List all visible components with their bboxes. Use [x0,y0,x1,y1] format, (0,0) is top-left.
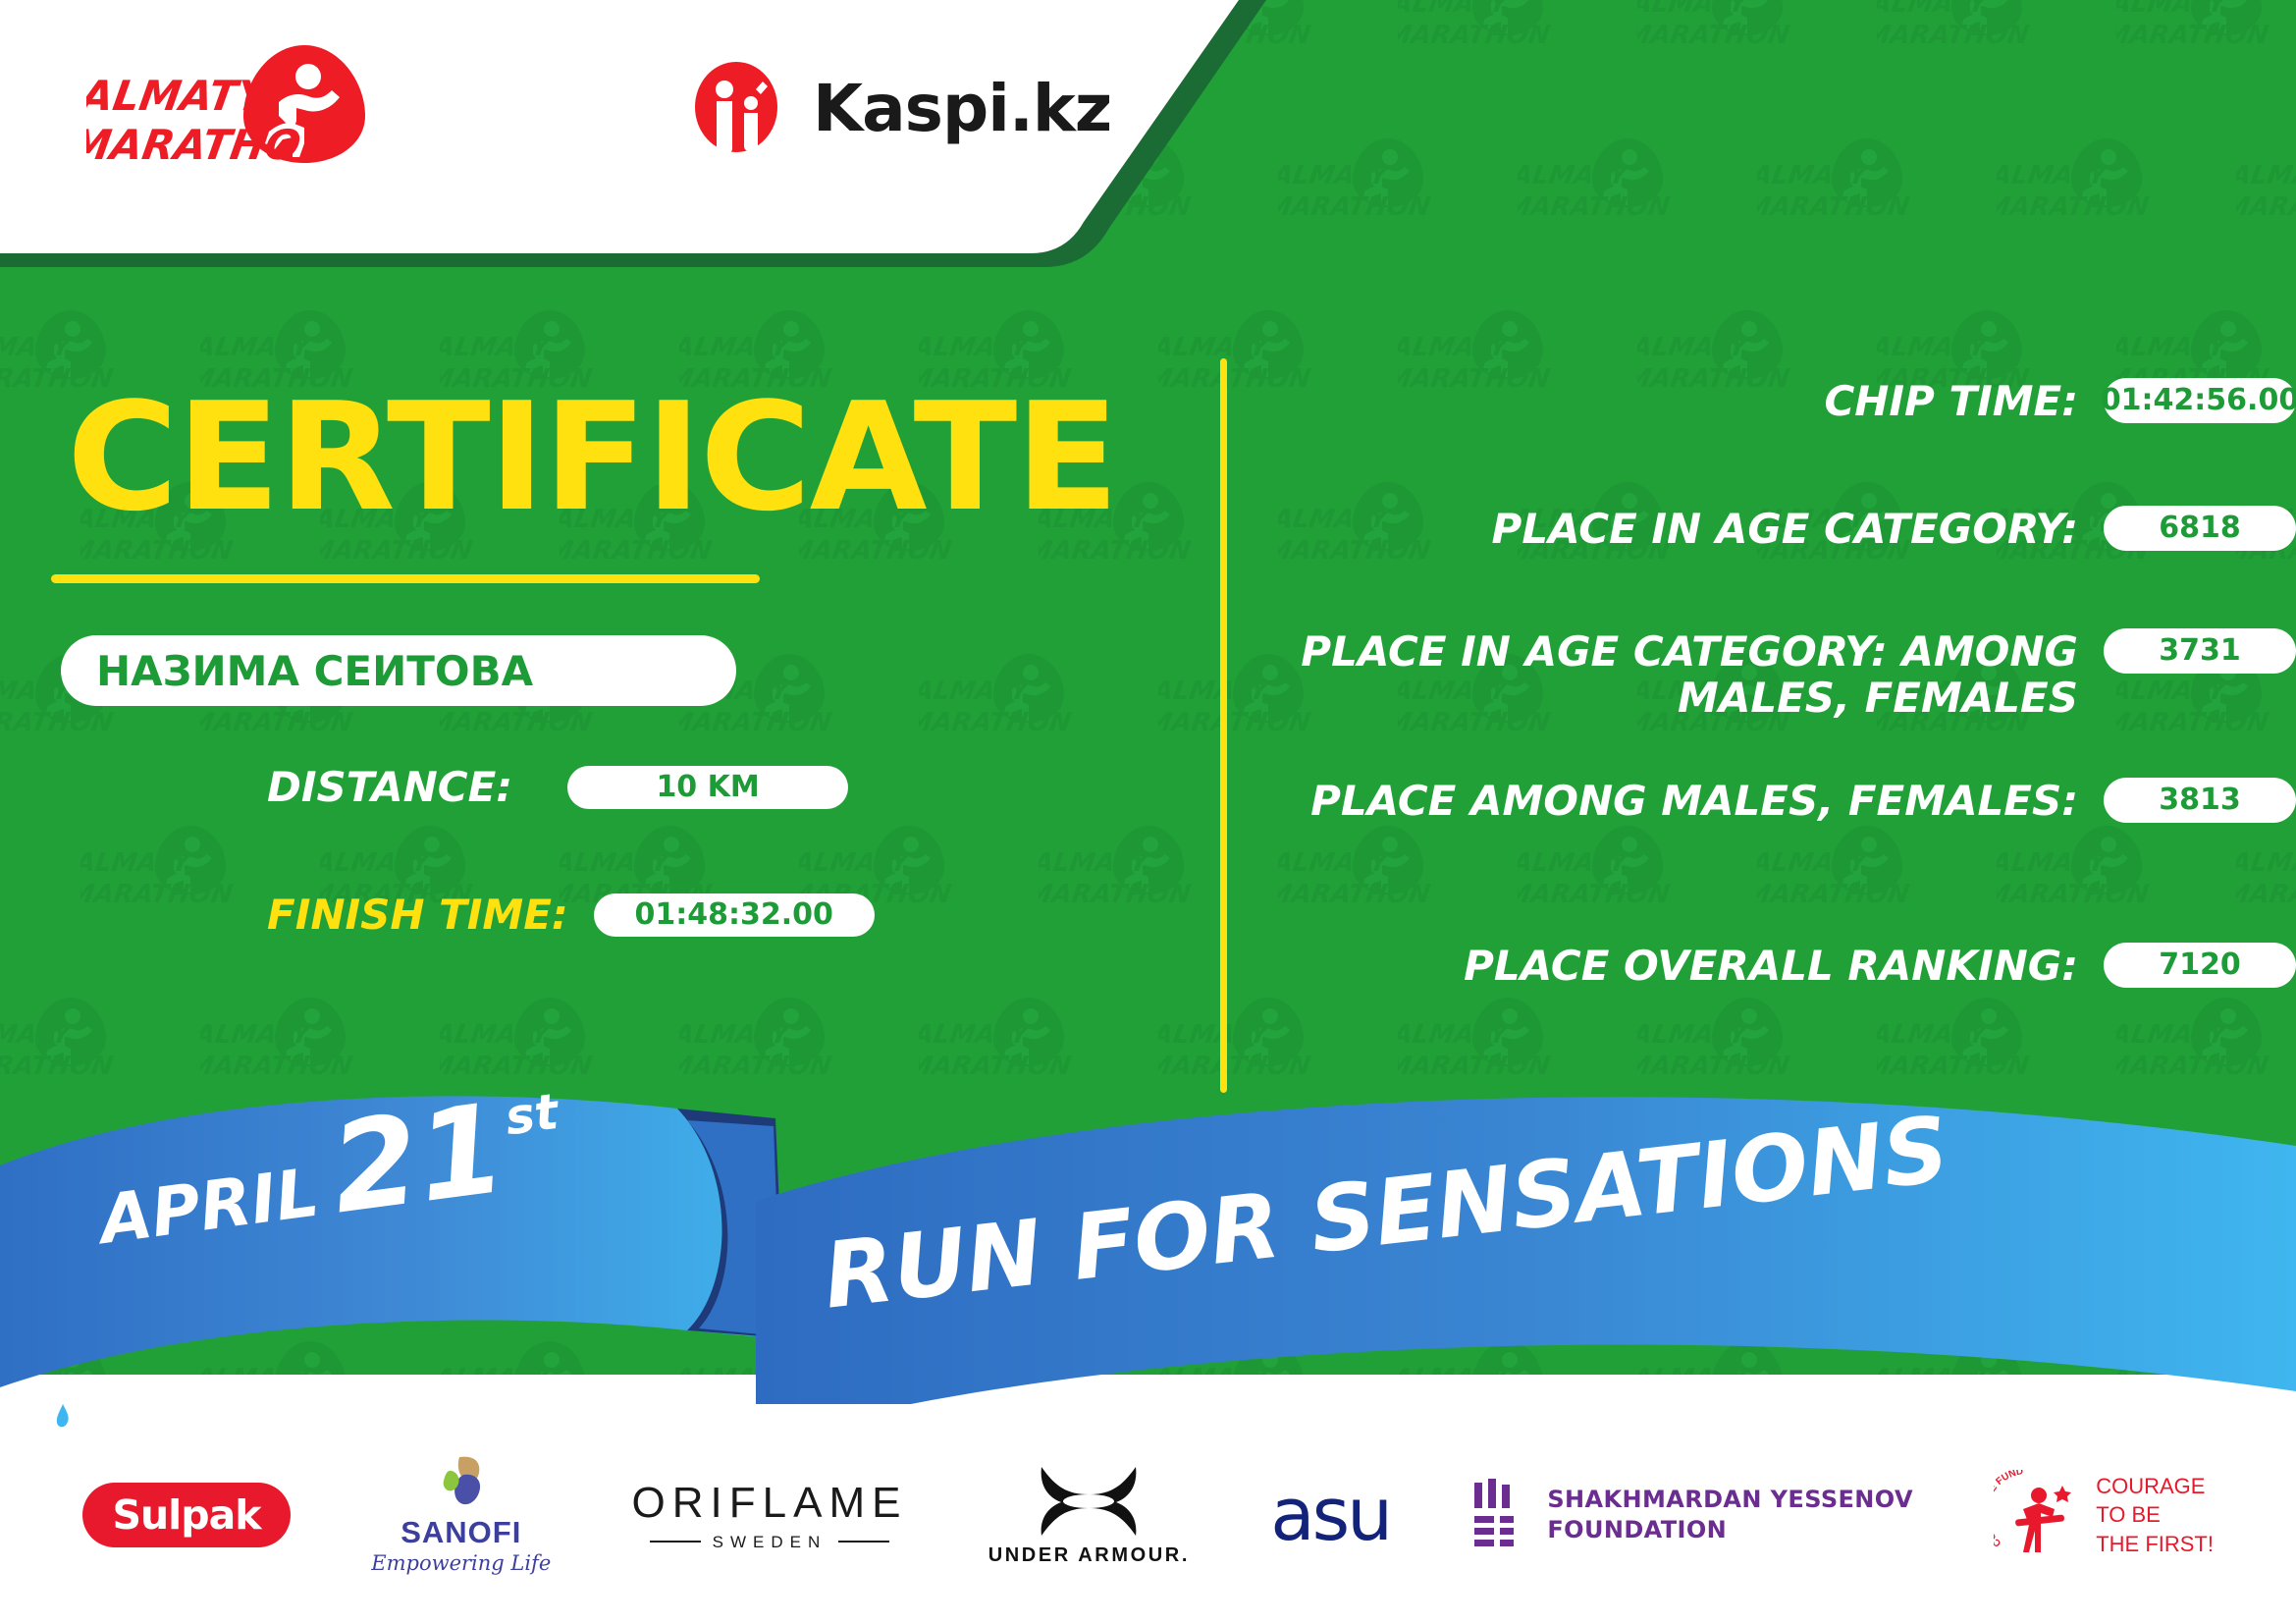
result-row-place-among-gender: PLACE AMONG MALES, FEMALES: 3813 [1276,778,2296,824]
oriflame-wordmark: ORIFLAME [632,1480,908,1527]
asu-wordmark: asu [1270,1479,1390,1551]
watermark-tile: ALMATYMARATHON [1039,820,1203,936]
svg-text:MARATHON: MARATHON [80,880,235,909]
finish-time-value-pill: 01:48:32.00 [594,893,875,937]
result-value-pill: 6818 [2104,506,2296,551]
svg-text:MARATHON: MARATHON [1757,192,1911,222]
svg-text:ALMATY: ALMATY [200,333,315,362]
almaty-marathon-logo-icon: ALMATY MARATHON [86,41,381,169]
svg-text:ALMATY: ALMATY [1877,0,1992,19]
svg-text:ALMATY: ALMATY [2236,848,2296,878]
certificate-page: ALMATYMARATHONALMATYMARATHONALMATYMARATH… [0,0,2296,1624]
result-row-place-overall: PLACE OVERALL RANKING: 7120 [1276,943,2296,989]
svg-text:MARATHON: MARATHON [0,708,115,737]
watermark-tile: ALMATYMARATHON [1997,133,2162,248]
yessenov-wordmark: SHAKHMARDAN YESSENOV FOUNDATION [1547,1485,1913,1544]
svg-text:MARATHON: MARATHON [2116,21,2270,50]
svg-text:MARATHON: MARATHON [1997,880,2151,909]
watermark-tile: ALMATYMARATHON [1877,0,2042,77]
svg-text:ALMATY: ALMATY [1997,848,2111,878]
watermark-tile: ALMATYMARATHON [1398,0,1563,77]
title-divider-rule [51,574,760,583]
sponsor-asu: asu [1270,1479,1390,1551]
result-value-pill: 7120 [2104,943,2296,988]
courage-line-3: THE FIRST! [2096,1532,2214,1556]
watermark-tile: ALMATYMARATHON [1997,820,2162,936]
finish-time-label: FINISH TIME: [267,894,568,936]
result-row-place-age-category: PLACE IN AGE CATEGORY: 6818 [1276,506,2296,552]
svg-text:ALMATY: ALMATY [1637,333,1752,362]
svg-text:ALMATY: ALMATY [1997,161,2111,190]
svg-text:MARATHON: MARATHON [440,708,594,737]
svg-text:ALMATY: ALMATY [0,1020,76,1050]
svg-text:MARATHON: MARATHON [1518,880,1672,909]
oriflame-rule-right [838,1541,889,1543]
svg-text:ALMATY: ALMATY [919,677,1034,706]
result-value-pill: 3813 [2104,778,2296,823]
svg-text:ALMATY: ALMATY [1398,1020,1513,1050]
watermark-tile: ALMATYMARATHON [2236,820,2296,936]
asu-drop-icon [55,1404,71,1430]
athlete-name-field: НАЗИМА СЕИТОВА [61,635,736,706]
watermark-tile: ALMATYMARATHON [1757,133,1922,248]
svg-text:MARATHON: MARATHON [200,708,354,737]
svg-text:ALMATY: ALMATY [0,333,76,362]
oriflame-sweden: SWEDEN [713,1534,828,1550]
sponsor-under-armour: UNDER ARMOUR. [988,1465,1190,1565]
svg-text:ALMATY: ALMATY [440,333,555,362]
svg-text:ALMATY: ALMATY [320,848,435,878]
svg-text:ALMATY: ALMATY [1518,161,1632,190]
svg-text:ALMATY: ALMATY [440,1020,555,1050]
sponsor-yessenov-foundation: SHAKHMARDAN YESSENOV FOUNDATION [1470,1479,1913,1551]
svg-text:MARATHON: MARATHON [1518,192,1672,222]
svg-text:MARATHON: MARATHON [86,121,339,169]
result-label: PLACE OVERALL RANKING: [1276,943,2104,989]
sanofi-mark-icon [430,1455,493,1514]
result-value: 01:42:56.00 [2101,386,2296,415]
sanofi-tagline: Empowering Life [371,1552,551,1575]
svg-text:ALMATY: ALMATY [1757,848,1872,878]
svg-text:MARATHON: MARATHON [1997,192,2151,222]
svg-text:ALMATY: ALMATY [679,1020,794,1050]
svg-text:ALMATY: ALMATY [1158,1020,1273,1050]
result-value-pill: 01:42:56.00 [2104,378,2296,423]
svg-text:ALMATY: ALMATY [2116,333,2231,362]
watermark-tile: ALMATYMARATHON [1278,133,1443,248]
result-label: PLACE IN AGE CATEGORY: [1276,506,2104,552]
result-value: 3731 [2159,636,2241,666]
watermark-tile: ALMATYMARATHON [2236,133,2296,248]
svg-text:ALMATY: ALMATY [1637,1020,1752,1050]
courage-fund-wordmark: COURAGE TO BE THE FIRST! [2096,1472,2214,1557]
svg-text:ALMATY: ALMATY [2116,0,2231,19]
svg-text:ALMATY: ALMATY [1877,333,1992,362]
svg-text:MARATHON: MARATHON [1039,880,1193,909]
svg-text:ALMATY: ALMATY [1637,0,1752,19]
under-armour-mark-icon [1034,1465,1144,1538]
svg-text:MARATHON: MARATHON [1877,21,2031,50]
finish-time-row: FINISH TIME: 01:48:32.00 [267,893,875,937]
result-value: 6818 [2159,514,2241,543]
svg-text:ALMATY: ALMATY [1158,333,1273,362]
kaspi-wordmark: Kaspi.kz [813,77,1111,141]
svg-text:ALMATY: ALMATY [560,848,674,878]
watermark-tile: ALMATYMARATHON [1637,0,1802,77]
result-label: PLACE IN AGE CATEGORY: AMONG MALES, FEMA… [1276,628,2104,721]
sanofi-wordmark: SANOFI [400,1516,521,1549]
sponsor-sulpak: Sulpak [82,1483,291,1547]
result-value-pill: 3731 [2104,628,2296,674]
watermark-tile: ALMATYMARATHON [80,820,245,936]
watermark-tile: ALMATYMARATHON [1278,820,1443,936]
kaspi-logo: Kaspi.kz [677,57,1050,160]
svg-text:ALMATY: ALMATY [1398,333,1513,362]
svg-text:ALMATY: ALMATY [1757,161,1872,190]
svg-text:ALMATY: ALMATY [1278,848,1393,878]
sulpak-wordmark: Sulpak [112,1495,260,1536]
svg-text:ALMATY: ALMATY [2236,161,2296,190]
svg-text:ALMATY: ALMATY [679,333,794,362]
svg-text:MARATHON: MARATHON [1278,192,1432,222]
result-value: 3813 [2159,785,2241,815]
watermark-tile: ALMATYMARATHON [919,648,1084,764]
result-label: PLACE AMONG MALES, FEMALES: [1276,778,2104,824]
sponsor-oriflame: ORIFLAME SWEDEN [632,1480,908,1549]
athlete-name: НАЗИМА СЕИТОВА [61,647,533,695]
distance-value: 10 KM [656,773,759,802]
courage-line-2: TO BE [2096,1502,2161,1527]
certificate-title: CERTIFICATE [67,383,1117,532]
watermark-tile: ALMATYMARATHON [1518,133,1682,248]
svg-text:ALMATY: ALMATY [919,333,1034,362]
watermark-tile: ALMATYMARATHON [1518,820,1682,936]
svg-text:ALMATY: ALMATY [1039,848,1153,878]
sponsor-bar: Sulpak SANOFI Empowering Life ORIFLAME S… [0,1406,2296,1624]
svg-text:MARATHON: MARATHON [1637,21,1791,50]
distance-value-pill: 10 KM [567,766,848,809]
ribbon-ordinal: st [503,1087,561,1143]
yessenov-line-1: SHAKHMARDAN YESSENOV [1547,1486,1913,1513]
svg-text:ALMATY: ALMATY [1518,848,1632,878]
svg-text:CORPORATE FUND: CORPORATE FUND [1994,1470,2024,1548]
result-row-chip-time: CHIP TIME: 01:42:56.00 [1276,378,2296,424]
svg-text:ALMATY: ALMATY [1398,0,1513,19]
courage-fund-mark-icon: CORPORATE FUND [1994,1470,2084,1560]
sponsor-sanofi: SANOFI Empowering Life [371,1455,551,1574]
column-divider [1220,358,1227,1093]
yessenov-line-2: FOUNDATION [1547,1516,1727,1543]
result-row-place-age-category-gender: PLACE IN AGE CATEGORY: AMONG MALES, FEMA… [1276,628,2296,721]
ribbon-day: 21 [325,1087,511,1232]
svg-text:ALMATY: ALMATY [799,848,914,878]
svg-text:ALMATY: ALMATY [86,72,275,120]
sulpak-logo-icon: Sulpak [82,1483,291,1547]
yessenov-mark-icon [1470,1479,1527,1551]
result-label: CHIP TIME: [1276,378,2104,424]
finish-time-value: 01:48:32.00 [634,900,832,930]
under-armour-wordmark: UNDER ARMOUR. [988,1545,1190,1565]
svg-text:MARATHON: MARATHON [1278,880,1432,909]
oriflame-sub: SWEDEN [650,1534,890,1550]
watermark-tile: ALMATYMARATHON [1757,820,1922,936]
svg-text:MARATHON: MARATHON [2236,880,2296,909]
svg-text:ALMATY: ALMATY [2116,1020,2231,1050]
svg-text:MARATHON: MARATHON [919,708,1073,737]
svg-text:ALMATY: ALMATY [919,1020,1034,1050]
svg-text:ALMATY: ALMATY [200,1020,315,1050]
svg-text:MARATHON: MARATHON [1398,21,1552,50]
svg-text:MARATHON: MARATHON [679,708,833,737]
result-value: 7120 [2159,950,2241,980]
watermark-tile: ALMATYMARATHON [2116,0,2281,77]
svg-text:MARATHON: MARATHON [2236,192,2296,222]
svg-text:MARATHON: MARATHON [1757,880,1911,909]
svg-text:ALMATY: ALMATY [80,848,195,878]
svg-text:ALMATY: ALMATY [1158,677,1273,706]
svg-text:ALMATY: ALMATY [1877,1020,1992,1050]
distance-row: DISTANCE: 10 KM [267,766,848,809]
kaspi-mark-icon [677,60,795,158]
distance-label: DISTANCE: [267,767,512,808]
sponsor-courage-fund: CORPORATE FUND COURAGE TO BE THE FIRST! [1994,1470,2214,1560]
oriflame-rule-left [650,1541,701,1543]
courage-line-1: COURAGE [2096,1474,2205,1498]
